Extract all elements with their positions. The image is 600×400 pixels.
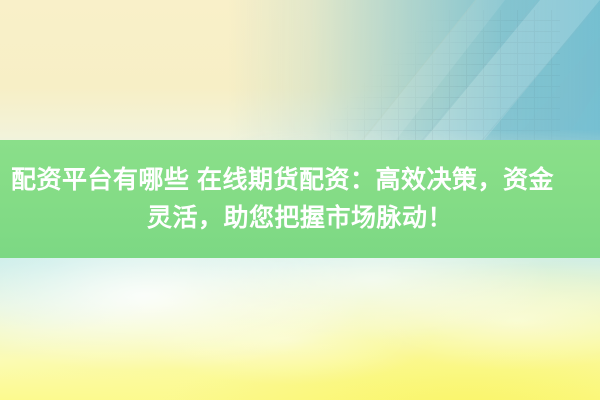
headline-band: 配资平台有哪些 在线期货配资：高效决策，资金 灵活，助您把握市场脉动！ (0, 140, 600, 258)
chevron-pattern-icon (300, 0, 600, 145)
promo-banner: 配资平台有哪些 在线期货配资：高效决策，资金 灵活，助您把握市场脉动！ (0, 0, 600, 400)
headline-line-1: 配资平台有哪些 在线期货配资：高效决策，资金 (11, 161, 554, 199)
headline-line-2: 灵活，助您把握市场脉动！ (147, 199, 453, 237)
